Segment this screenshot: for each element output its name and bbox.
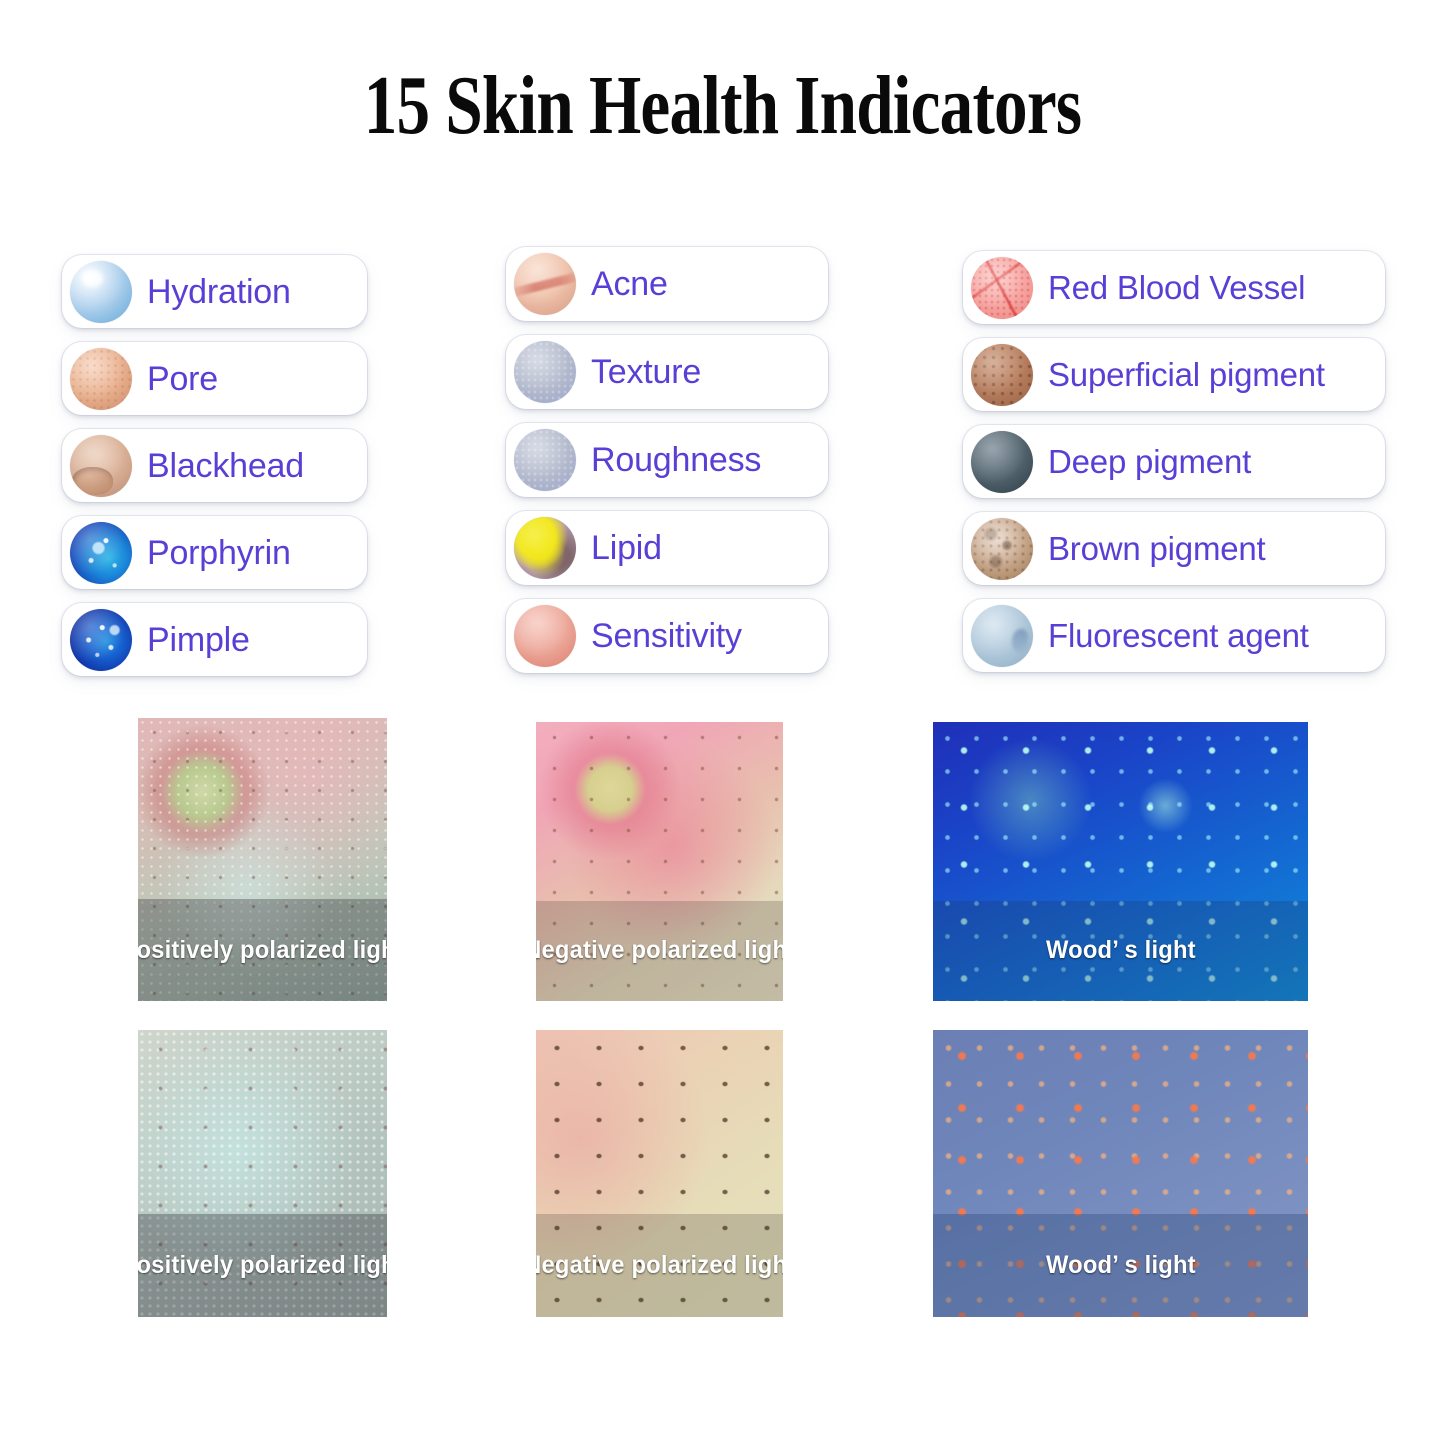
indicator-pill-pimple[interactable]: Pimple xyxy=(62,603,367,676)
indicator-label: Lipid xyxy=(591,530,662,566)
indicator-label: Superficial pigment xyxy=(1048,357,1325,393)
indicator-pill-roughness[interactable]: Roughness xyxy=(506,423,828,497)
fluorescent-agent-icon xyxy=(971,605,1033,667)
pimple-fluorescence-icon xyxy=(70,609,132,671)
indicator-pill-red-blood-vessel[interactable]: Red Blood Vessel xyxy=(963,251,1385,324)
indicator-pill-lipid[interactable]: Lipid xyxy=(506,511,828,585)
pore-skin-icon xyxy=(70,348,132,410)
photo-caption-band: Wood’ s light xyxy=(933,1214,1308,1317)
indicator-pill-brown-pigment[interactable]: Brown pigment xyxy=(963,512,1385,585)
indicator-pill-acne[interactable]: Acne xyxy=(506,247,828,321)
page-title: 15 Skin Health Indicators xyxy=(145,62,1301,150)
roughness-skin-icon xyxy=(514,429,576,491)
red-blood-vessel-icon xyxy=(971,257,1033,319)
acne-skin-icon xyxy=(514,253,576,315)
indicator-label: Blackhead xyxy=(147,448,304,484)
photo-caption-band: Wood’ s light xyxy=(933,901,1308,1001)
photo-acne-woods-light[interactable]: Wood’ s light xyxy=(933,722,1308,1001)
indicator-label: Texture xyxy=(591,354,701,390)
indicator-pill-deep-pigment[interactable]: Deep pigment xyxy=(963,425,1385,498)
indicator-column-2: Acne Texture Roughness Lipid Sensitivity xyxy=(506,247,828,687)
photo-pore-negative-polarized[interactable]: Negative polarized light xyxy=(536,1030,783,1317)
indicator-label: Sensitivity xyxy=(591,618,742,654)
hydration-sphere-icon xyxy=(70,261,132,323)
photo-caption-band: Positively polarized light xyxy=(138,1214,387,1317)
indicator-pill-pore[interactable]: Pore xyxy=(62,342,367,415)
indicator-pill-blackhead[interactable]: Blackhead xyxy=(62,429,367,502)
indicator-label: Acne xyxy=(591,266,668,302)
indicator-pill-sensitivity[interactable]: Sensitivity xyxy=(506,599,828,673)
indicator-pill-texture[interactable]: Texture xyxy=(506,335,828,409)
indicator-label: Roughness xyxy=(591,442,761,478)
indicator-label: Pore xyxy=(147,361,218,397)
photo-caption-band: Positively polarized light xyxy=(138,899,387,1001)
photo-pore-woods-light[interactable]: Wood’ s light xyxy=(933,1030,1308,1317)
photo-caption-band: Negative polarized light xyxy=(536,1214,783,1317)
texture-skin-icon xyxy=(514,341,576,403)
indicator-pill-porphyrin[interactable]: Porphyrin xyxy=(62,516,367,589)
indicator-label: Red Blood Vessel xyxy=(1048,270,1305,306)
blackhead-nose-icon xyxy=(70,435,132,497)
indicator-pill-hydration[interactable]: Hydration xyxy=(62,255,367,328)
brown-pigment-icon xyxy=(971,518,1033,580)
deep-pigment-icon xyxy=(971,431,1033,493)
photo-caption: Wood’ s light xyxy=(1046,1251,1196,1280)
lipid-fluorescence-icon xyxy=(514,517,576,579)
photo-caption: Negative polarized light xyxy=(536,936,783,965)
photo-grid: Positively polarized light Negative pola… xyxy=(0,0,1445,1445)
porphyrin-fluorescence-icon xyxy=(70,522,132,584)
indicator-label: Porphyrin xyxy=(147,535,291,571)
indicator-column-1: Hydration Pore Blackhead Porphyrin Pimpl… xyxy=(62,255,367,690)
indicator-label: Fluorescent agent xyxy=(1048,618,1309,654)
photo-pore-positively-polarized[interactable]: Positively polarized light xyxy=(138,1030,387,1317)
indicator-pill-superficial-pigment[interactable]: Superficial pigment xyxy=(963,338,1385,411)
photo-caption: Positively polarized light xyxy=(138,936,387,965)
photo-acne-negative-polarized[interactable]: Negative polarized light xyxy=(536,722,783,1001)
indicator-label: Pimple xyxy=(147,622,250,658)
photo-caption-band: Negative polarized light xyxy=(536,901,783,1001)
photo-caption: Negative polarized light xyxy=(536,1251,783,1280)
indicator-pill-fluorescent-agent[interactable]: Fluorescent agent xyxy=(963,599,1385,672)
photo-caption: Wood’ s light xyxy=(1046,936,1196,965)
superficial-pigment-icon xyxy=(971,344,1033,406)
indicator-label: Deep pigment xyxy=(1048,444,1251,480)
sensitivity-skin-icon xyxy=(514,605,576,667)
indicator-column-3: Red Blood Vessel Superficial pigment Dee… xyxy=(963,251,1385,686)
indicator-label: Brown pigment xyxy=(1048,531,1266,567)
photo-acne-positively-polarized[interactable]: Positively polarized light xyxy=(138,718,387,1001)
photo-caption: Positively polarized light xyxy=(138,1251,387,1280)
indicator-label: Hydration xyxy=(147,274,291,310)
